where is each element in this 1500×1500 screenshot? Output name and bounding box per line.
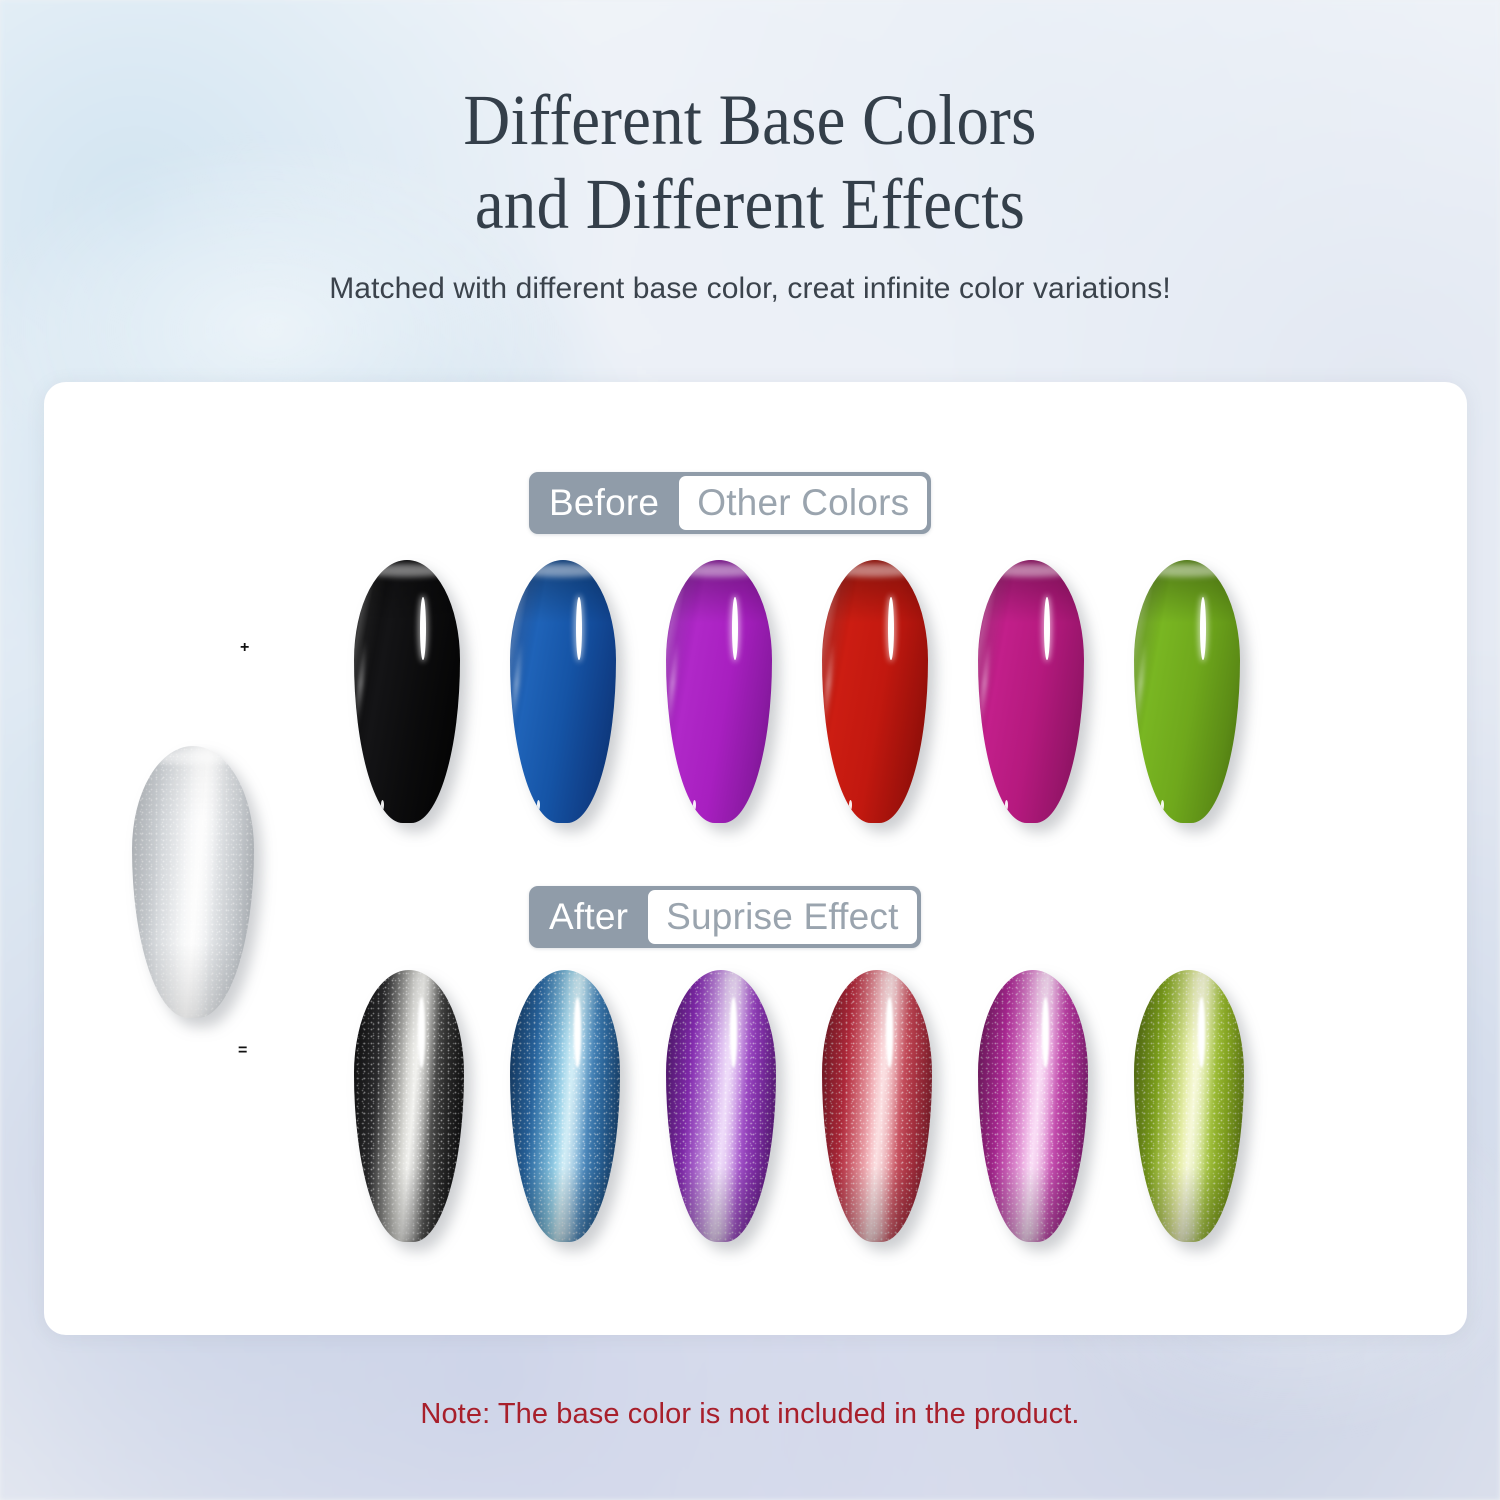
nail-before-magenta-glint bbox=[1044, 597, 1050, 660]
nail-after-black-shading bbox=[354, 970, 464, 1242]
nail-after-magenta bbox=[978, 970, 1088, 1242]
header: Different Base Colors and Different Effe… bbox=[0, 78, 1500, 306]
nail-base-silver bbox=[132, 746, 254, 1018]
nail-after-purple bbox=[666, 970, 776, 1242]
nail-before-black-sheen bbox=[354, 560, 460, 823]
nail-after-red bbox=[822, 970, 932, 1242]
nail-after-green bbox=[1134, 970, 1244, 1242]
comparison-card: Before Other Colors After Suprise Effect… bbox=[44, 382, 1467, 1335]
badge-after-value: Suprise Effect bbox=[648, 890, 916, 944]
nail-before-purple-glint-small bbox=[693, 800, 696, 810]
nail-before-blue-sheen bbox=[510, 560, 616, 823]
nail-before-blue bbox=[510, 560, 616, 823]
nail-before-purple-glint bbox=[732, 597, 738, 660]
page-subtitle: Matched with different base color, creat… bbox=[0, 272, 1500, 306]
page-title-line-1: Different Base Colors bbox=[75, 78, 1425, 162]
nail-before-red-sheen bbox=[822, 560, 928, 823]
nail-after-blue bbox=[510, 970, 620, 1242]
nail-before-green-sheen bbox=[1134, 560, 1240, 823]
nail-after-black bbox=[354, 970, 464, 1242]
nail-before-blue-glint-small bbox=[537, 800, 540, 810]
nail-before-red-glint-small bbox=[849, 800, 852, 810]
nail-before-black bbox=[354, 560, 460, 823]
nail-after-blue-shading bbox=[510, 970, 620, 1242]
nail-before-magenta-sheen bbox=[978, 560, 1084, 823]
nail-after-red-shading bbox=[822, 970, 932, 1242]
nail-base-silver-top-highlight bbox=[142, 750, 245, 764]
nail-before-blue-glint bbox=[576, 597, 582, 660]
badge-before-value: Other Colors bbox=[679, 476, 927, 530]
nail-before-green-glint-small bbox=[1161, 800, 1164, 810]
nail-before-purple bbox=[666, 560, 772, 823]
nail-before-magenta bbox=[978, 560, 1084, 823]
nail-before-purple-sheen bbox=[666, 560, 772, 823]
plus-operator: + bbox=[240, 640, 249, 656]
product-note: Note: The base color is not included in … bbox=[0, 1398, 1500, 1431]
nail-after-purple-shading bbox=[666, 970, 776, 1242]
badge-before: Before Other Colors bbox=[529, 472, 931, 534]
nail-before-black-glint bbox=[420, 597, 426, 660]
nail-before-red-glint bbox=[888, 597, 894, 660]
badge-after: After Suprise Effect bbox=[529, 886, 921, 948]
nail-before-black-glint-small bbox=[381, 800, 384, 810]
nail-before-red bbox=[822, 560, 928, 823]
badge-before-label: Before bbox=[529, 472, 679, 534]
badge-after-label: After bbox=[529, 886, 648, 948]
nail-before-green-glint bbox=[1200, 597, 1206, 660]
nail-before-green bbox=[1134, 560, 1240, 823]
nail-after-magenta-shading bbox=[978, 970, 1088, 1242]
equals-operator: = bbox=[238, 1043, 247, 1059]
nail-after-green-shading bbox=[1134, 970, 1244, 1242]
page-title-line-2: and Different Effects bbox=[75, 162, 1425, 246]
nail-before-magenta-glint-small bbox=[1005, 800, 1008, 810]
nail-base-silver-shading bbox=[132, 746, 254, 1018]
